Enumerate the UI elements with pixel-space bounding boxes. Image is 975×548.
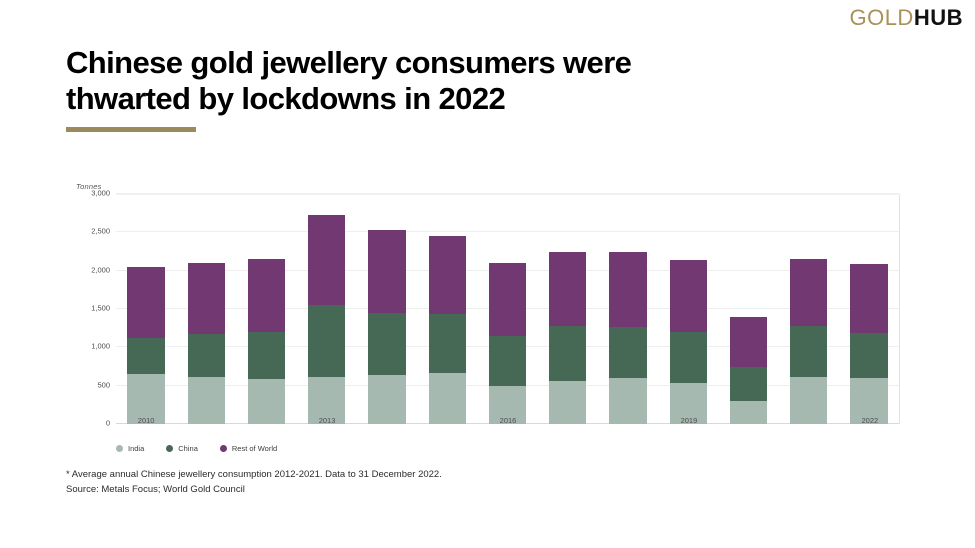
footnotes: * Average annual Chinese jewellery consu… [66,468,442,497]
bar-group[interactable] [670,260,707,424]
bar-group[interactable] [730,317,767,424]
bar-segment[interactable] [489,263,526,336]
legend-label: Rest of World [232,444,277,453]
bar-segment[interactable] [609,252,646,327]
bar-segment[interactable] [549,326,586,380]
x-axis-tick-label: 2013 [319,416,336,425]
bar-group[interactable] [790,259,827,424]
bar-segment[interactable] [730,401,767,424]
chart-plot-area: 05001,0001,5002,0002,5003,000 [116,194,900,424]
legend-label: China [178,444,198,453]
x-axis-tick-label: 2019 [681,416,698,425]
bar-segment[interactable] [670,332,707,383]
bar-segment[interactable] [549,381,586,424]
bar-segment[interactable] [790,326,827,377]
bar-segment[interactable] [730,367,767,401]
bars-layer [116,195,899,424]
x-axis-tick-label: 2016 [500,416,517,425]
title-block: Chinese gold jewellery consumers were th… [66,45,686,132]
y-axis-tick-label: 1,000 [91,342,110,351]
title-underline-rule [66,127,196,132]
bar-segment[interactable] [850,333,887,377]
bar-segment[interactable] [188,263,225,334]
bar-segment[interactable] [368,313,405,375]
legend-swatch-icon [166,445,173,452]
y-axis-tick-label: 1,500 [91,304,110,313]
y-axis-tick-label: 2,000 [91,265,110,274]
legend-item[interactable]: China [166,444,198,453]
bar-group[interactable] [489,263,526,424]
stacked-bar-chart: Tonnes 05001,0001,5002,0002,5003,000 201… [66,182,906,457]
y-axis-tick-label: 3,000 [91,189,110,198]
bar-segment[interactable] [127,338,164,374]
bar-group[interactable] [127,267,164,424]
bar-segment[interactable] [188,377,225,424]
bar-segment[interactable] [790,259,827,325]
bar-segment[interactable] [368,230,405,313]
bar-segment[interactable] [609,378,646,424]
y-axis-tick-label: 500 [97,380,110,389]
bar-group[interactable] [549,252,586,424]
bar-group[interactable] [609,252,646,424]
bar-segment[interactable] [308,215,345,305]
logo-text-hub: HUB [914,5,963,30]
bar-segment[interactable] [850,264,887,333]
bar-group[interactable] [850,264,887,424]
y-axis-tick-label: 0 [106,419,110,428]
bar-segment[interactable] [248,259,285,332]
legend-item[interactable]: Rest of World [220,444,277,453]
bar-segment[interactable] [188,334,225,377]
x-axis-tick-label: 2010 [138,416,155,425]
page-title: Chinese gold jewellery consumers were th… [66,45,686,117]
footnote-line-1: * Average annual Chinese jewellery consu… [66,468,442,483]
bar-segment[interactable] [429,236,466,314]
bar-segment[interactable] [308,305,345,377]
legend-swatch-icon [220,445,227,452]
bar-segment[interactable] [549,252,586,326]
gridline: 3,000 [116,193,899,194]
bar-segment[interactable] [609,327,646,378]
y-axis-tick-label: 2,500 [91,227,110,236]
bar-segment[interactable] [429,373,466,424]
bar-segment[interactable] [489,336,526,386]
bar-group[interactable] [248,259,285,424]
bar-group[interactable] [308,215,345,424]
bar-group[interactable] [188,263,225,424]
bar-segment[interactable] [730,317,767,367]
bar-segment[interactable] [429,314,466,373]
goldhub-logo: GOLDHUB [849,7,963,29]
bar-segment[interactable] [248,379,285,424]
bar-group[interactable] [368,230,405,424]
bar-segment[interactable] [127,267,164,338]
bar-segment[interactable] [248,332,285,379]
bar-segment[interactable] [368,375,405,424]
footnote-line-2: Source: Metals Focus; World Gold Council [66,483,442,498]
chart-legend: IndiaChinaRest of World [116,444,277,453]
legend-label: India [128,444,144,453]
legend-item[interactable]: India [116,444,144,453]
legend-swatch-icon [116,445,123,452]
bar-segment[interactable] [790,377,827,424]
bar-group[interactable] [429,236,466,424]
logo-text-gold: GOLD [849,5,913,30]
bar-segment[interactable] [670,260,707,331]
x-axis-tick-label: 2022 [862,416,879,425]
